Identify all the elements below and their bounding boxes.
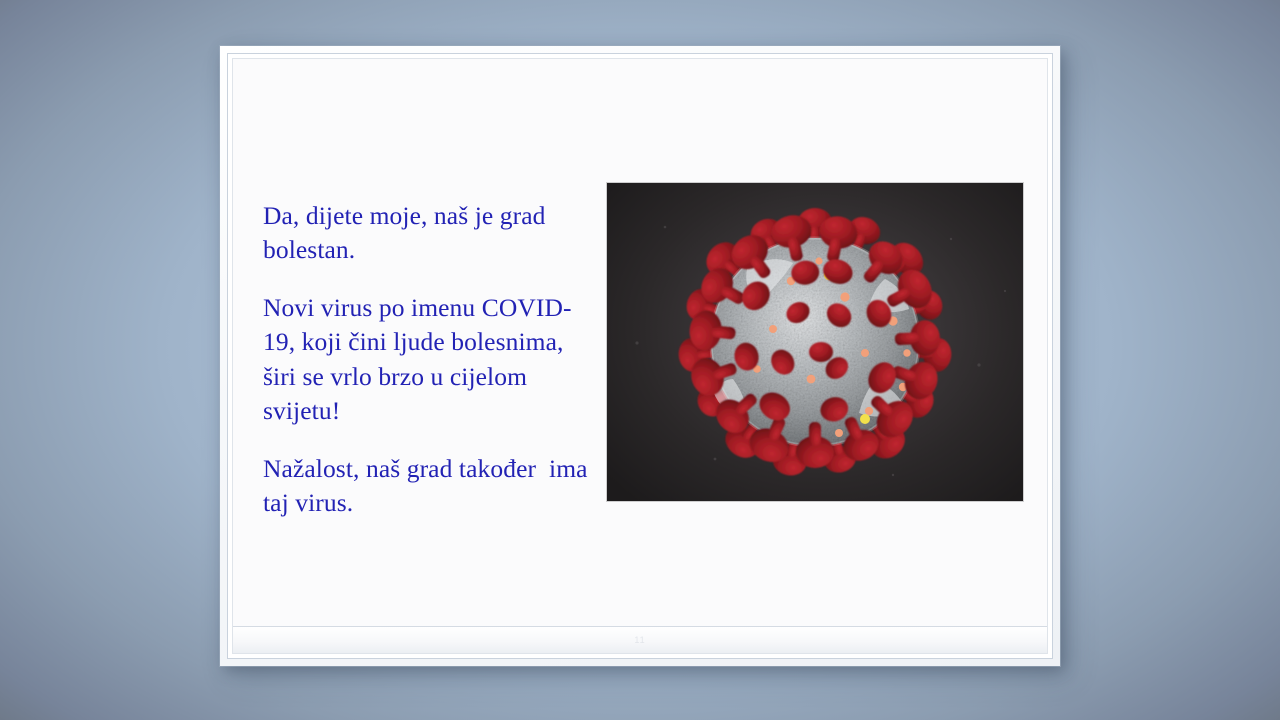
coronavirus-illustration-icon [607, 183, 1023, 501]
presentation-stage: Da, dijete moje, naš je grad bolestan. N… [0, 0, 1280, 720]
page-number: 11 [634, 635, 645, 645]
slide-frame: Da, dijete moje, naš je grad bolestan. N… [220, 46, 1060, 666]
slide-body-text: Da, dijete moje, naš je grad bolestan. N… [263, 199, 593, 520]
paragraph-1: Da, dijete moje, naš je grad bolestan. [263, 199, 593, 267]
slide-frame-inner: Da, dijete moje, naš je grad bolestan. N… [227, 53, 1053, 659]
paragraph-3: Nažalost, naš grad također ima taj virus… [263, 452, 593, 520]
slide-footer-band: 11 [233, 626, 1047, 653]
slide-canvas: Da, dijete moje, naš je grad bolestan. N… [232, 58, 1048, 654]
paragraph-2: Novi virus po imenu COVID-19, koji čini … [263, 291, 593, 428]
coronavirus-image [607, 183, 1023, 501]
